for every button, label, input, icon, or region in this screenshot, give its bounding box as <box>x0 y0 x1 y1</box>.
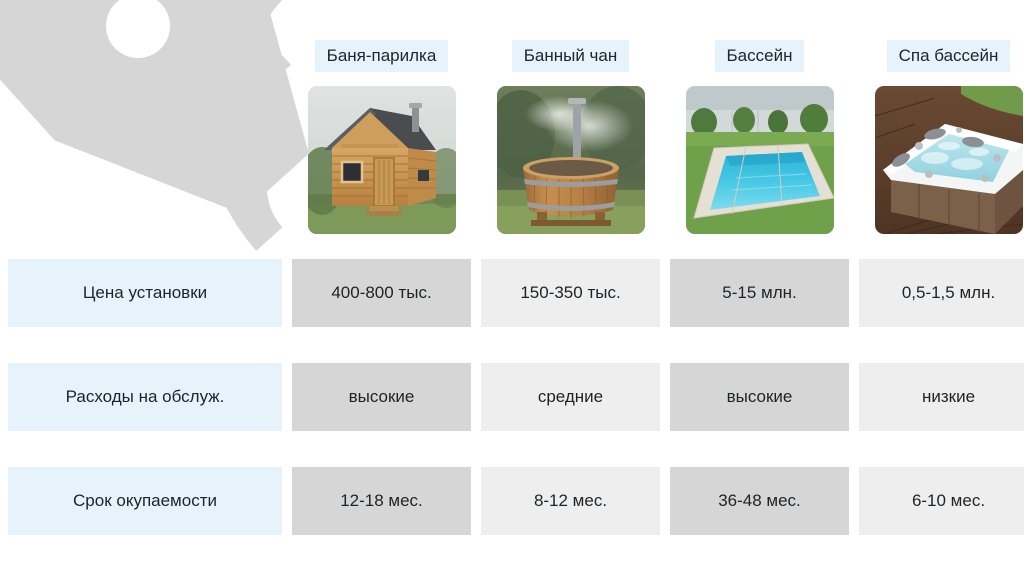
spa-hot-tub-photo <box>875 86 1023 234</box>
table-row-upkeep: Расходы на обслуж. высокие средние высок… <box>8 363 996 431</box>
cell-price-tub: 150-350 тыс. <box>481 259 660 327</box>
cell-price-sauna: 400-800 тыс. <box>292 259 471 327</box>
data-cell: 5-15 млн. <box>670 259 849 327</box>
table-row-price: Цена установки 400-800 тыс. 150-350 тыс.… <box>8 259 996 327</box>
cell-upkeep-sauna: высокие <box>292 363 471 431</box>
data-cell: низкие <box>859 363 1024 431</box>
data-cell: 0,5-1,5 млн. <box>859 259 1024 327</box>
image-cell <box>292 85 471 235</box>
swimming-pool-photo <box>686 86 834 234</box>
cell-payback-tub: 8-12 мес. <box>481 467 660 535</box>
column-header-cell: Баня-парилка <box>292 40 471 72</box>
cell-upkeep-tub: средние <box>481 363 660 431</box>
cell-payback-pool: 36-48 мес. <box>670 467 849 535</box>
cell-upkeep-pool: высокие <box>670 363 849 431</box>
image-cell <box>670 85 849 235</box>
cell-price-pool: 5-15 млн. <box>670 259 849 327</box>
log-sauna-photo <box>308 86 456 234</box>
infographic-comparison-table: Баня-парилка Банный чан Бассейн Спа басс… <box>0 0 1024 579</box>
data-cell: 150-350 тыс. <box>481 259 660 327</box>
data-cell: 36-48 мес. <box>670 467 849 535</box>
row-label-cell: Цена установки <box>8 259 282 327</box>
row-label-cell: Срок окупаемости <box>8 467 282 535</box>
row-label-upkeep: Расходы на обслуж. <box>8 363 282 431</box>
header-corner-cell <box>8 40 282 72</box>
table-row-payback: Срок окупаемости 12-18 мес. 8-12 мес. 36… <box>8 467 996 535</box>
row-label-price: Цена установки <box>8 259 282 327</box>
table-header-row: Баня-парилка Банный чан Бассейн Спа басс… <box>8 40 996 72</box>
column-header-sauna: Баня-парилка <box>315 40 449 72</box>
image-cell <box>859 85 1024 235</box>
data-cell: 12-18 мес. <box>292 467 471 535</box>
row-label-cell: Расходы на обслуж. <box>8 363 282 431</box>
data-cell: 6-10 мес. <box>859 467 1024 535</box>
column-header-tub: Банный чан <box>512 40 630 72</box>
data-cell: высокие <box>292 363 471 431</box>
table-image-row <box>8 85 996 235</box>
column-header-cell: Спа бассейн <box>859 40 1024 72</box>
column-header-spa: Спа бассейн <box>887 40 1011 72</box>
data-cell: 400-800 тыс. <box>292 259 471 327</box>
data-cell: 8-12 мес. <box>481 467 660 535</box>
cell-price-spa: 0,5-1,5 млн. <box>859 259 1024 327</box>
cell-payback-sauna: 12-18 мес. <box>292 467 471 535</box>
data-cell: высокие <box>670 363 849 431</box>
data-cell: средние <box>481 363 660 431</box>
cell-payback-spa: 6-10 мес. <box>859 467 1024 535</box>
wooden-hot-tub-photo <box>497 86 645 234</box>
row-label-payback: Срок окупаемости <box>8 467 282 535</box>
image-cell <box>481 85 660 235</box>
image-row-corner-cell <box>8 85 282 235</box>
cell-upkeep-spa: низкие <box>859 363 1024 431</box>
column-header-cell: Банный чан <box>481 40 660 72</box>
column-header-pool: Бассейн <box>715 40 805 72</box>
comparison-table: Баня-парилка Банный чан Бассейн Спа басс… <box>0 0 1024 579</box>
column-header-cell: Бассейн <box>670 40 849 72</box>
